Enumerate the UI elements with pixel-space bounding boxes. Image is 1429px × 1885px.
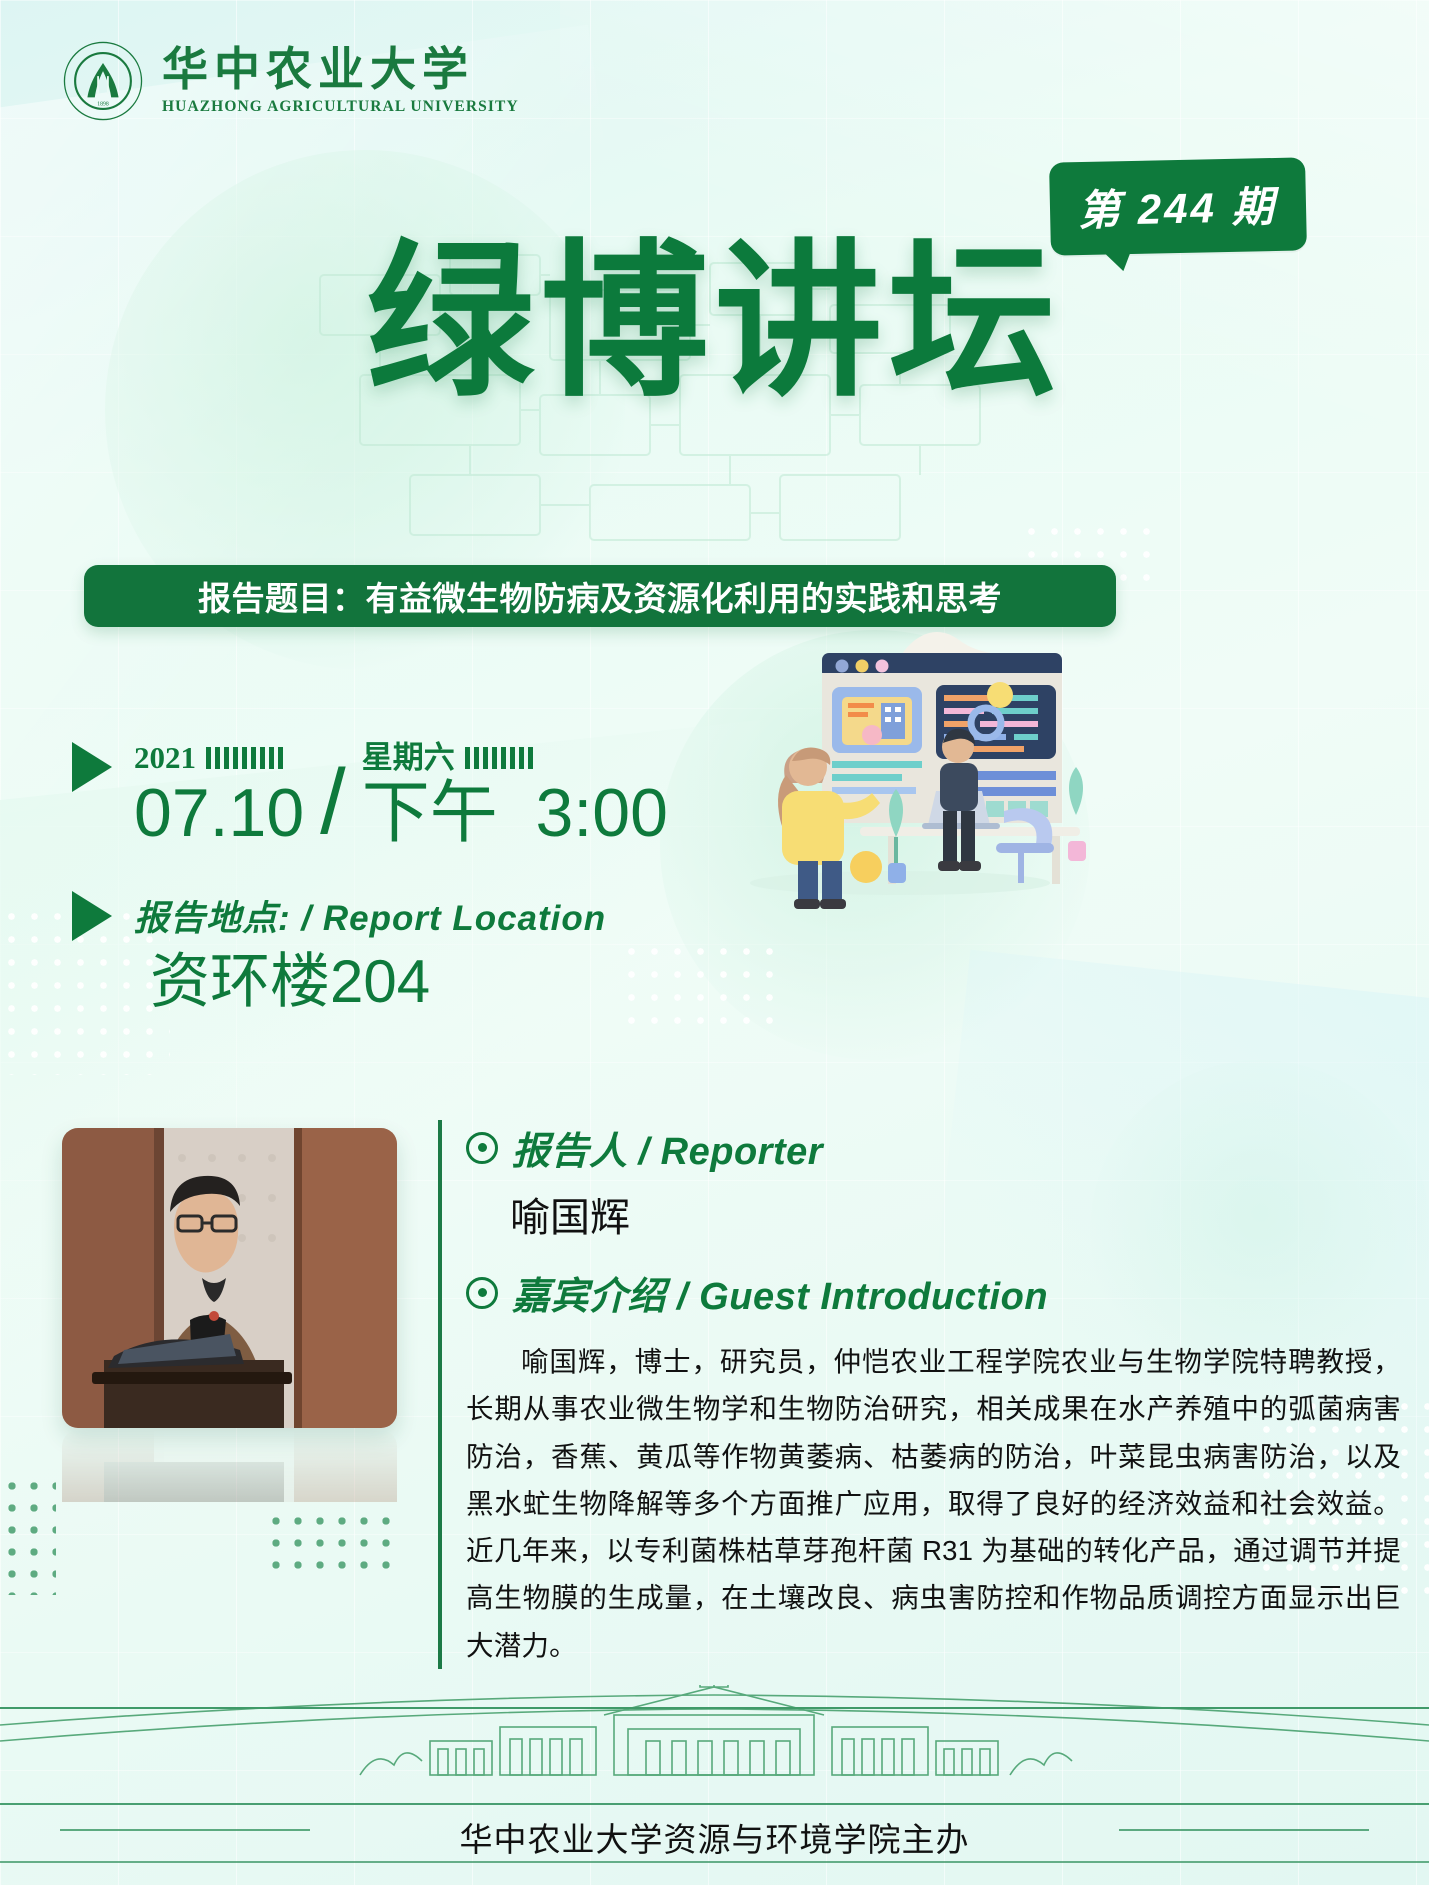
footer-line-mid bbox=[0, 1803, 1429, 1805]
page-title: 绿博讲坛 bbox=[0, 238, 1429, 406]
bar-decoration-icon bbox=[206, 747, 286, 769]
footer: 华中农业大学资源与环境学院主办 bbox=[0, 1685, 1429, 1885]
date-column: 2021 07.10 bbox=[134, 742, 304, 848]
speaker-photo-reflection bbox=[62, 1430, 397, 1502]
speaker-section: 报告人 / Reporter 喻国辉 嘉宾介绍 / Guest Introduc… bbox=[438, 1120, 1401, 1669]
university-name-cn: 华中农业大学 bbox=[162, 46, 519, 95]
workspace-illustration bbox=[700, 615, 1090, 915]
guest-heading: 嘉宾介绍 / Guest Introduction bbox=[512, 1265, 1048, 1320]
dot-pattern-4 bbox=[265, 1510, 390, 1570]
footer-building-illustration bbox=[0, 1685, 1429, 1815]
datetime-row: 2021 07.10 / 星期六 下午 3:00 bbox=[72, 742, 712, 848]
guest-bio: 喻国辉，博士，研究员，仲恺农业工程学院农业与生物学院特聘教授，长期从事农业微生物… bbox=[466, 1338, 1401, 1669]
date-separator: / bbox=[320, 756, 346, 848]
triangle-marker-icon-2 bbox=[72, 891, 112, 941]
university-seal-icon: 1898 bbox=[62, 40, 144, 122]
poster-root: 1898 华中农业大学 HUAZHONG AGRICULTURAL UNIVER… bbox=[0, 0, 1429, 1885]
event-weekday: 星期六 bbox=[362, 742, 455, 773]
speaker-photo-reflection-image bbox=[62, 1430, 397, 1502]
reporter-heading: 报告人 / Reporter bbox=[512, 1120, 823, 1175]
university-name-en: HUAZHONG AGRICULTURAL UNIVERSITY bbox=[162, 98, 519, 116]
reporter-name: 喻国辉 bbox=[510, 1185, 1401, 1243]
triangle-marker-icon bbox=[72, 742, 112, 792]
dot-pattern-6 bbox=[1, 1475, 56, 1595]
event-date: 07.10 bbox=[134, 779, 304, 848]
time-column: 星期六 下午 3:00 bbox=[362, 742, 668, 848]
bullet-circle-icon bbox=[466, 1132, 498, 1164]
event-time-period: 下午 bbox=[362, 775, 498, 851]
footer-organizer: 华中农业大学资源与环境学院主办 bbox=[0, 1813, 1429, 1861]
bullet-circle-icon-2 bbox=[466, 1277, 498, 1309]
bar-decoration-icon-2 bbox=[465, 747, 537, 769]
speaker-photo bbox=[62, 1128, 397, 1428]
event-year: 2021 bbox=[134, 742, 196, 773]
seal-year: 1898 bbox=[97, 102, 109, 108]
event-time-value: 3:00 bbox=[536, 775, 668, 851]
location-value: 资环楼204 bbox=[150, 949, 712, 1015]
university-logo: 1898 华中农业大学 HUAZHONG AGRICULTURAL UNIVER… bbox=[62, 40, 519, 122]
event-info-block: 2021 07.10 / 星期六 下午 3:00 bbox=[72, 742, 712, 1015]
speaker-photo-image bbox=[62, 1128, 397, 1428]
background-sheet-1 bbox=[0, 25, 685, 816]
event-time: 下午 3:00 bbox=[362, 779, 668, 848]
footer-line-bottom bbox=[0, 1861, 1429, 1863]
location-heading-row: 报告地点: / Report Location bbox=[72, 890, 712, 941]
location-heading: 报告地点: / Report Location bbox=[134, 890, 606, 941]
guest-heading-row: 嘉宾介绍 / Guest Introduction bbox=[466, 1265, 1401, 1320]
reporter-heading-row: 报告人 / Reporter bbox=[466, 1120, 1401, 1175]
